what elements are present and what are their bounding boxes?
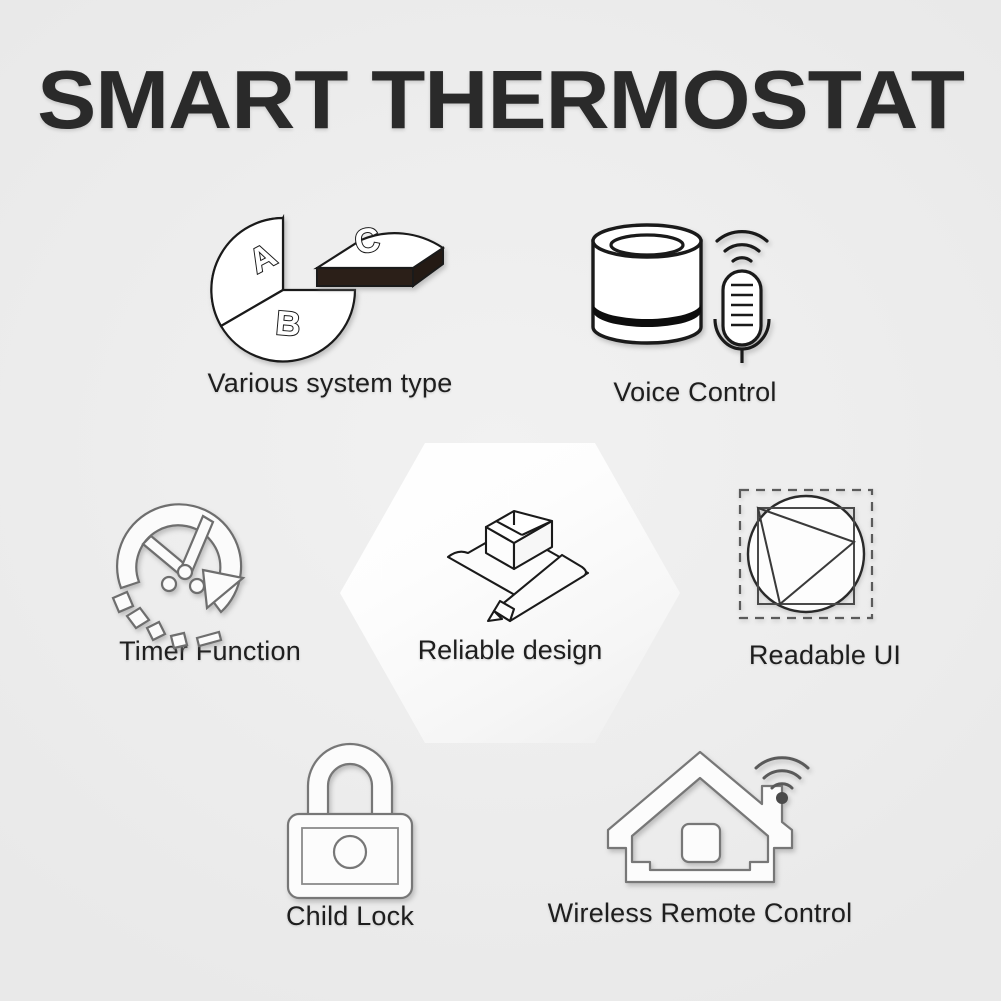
isometric-box-pencil-icon xyxy=(410,481,610,631)
pie-label-c: C xyxy=(352,220,383,262)
feature-wireless-remote-control[interactable]: Wireless Remote Control xyxy=(500,742,900,929)
feature-readable-ui[interactable]: Readable UI xyxy=(710,480,940,671)
feature-label: Readable UI xyxy=(710,640,940,671)
feature-various-system-type[interactable]: A B C Various system type xyxy=(185,212,475,399)
padlock-icon xyxy=(230,748,470,893)
feature-voice-control[interactable]: Voice Control xyxy=(545,215,845,408)
feature-reliable-design[interactable]: Reliable design xyxy=(340,443,680,743)
clock-arrow-timer-icon xyxy=(95,492,325,632)
house-wifi-icon xyxy=(500,742,900,892)
pie-label-b: B xyxy=(274,304,302,344)
poster-canvas: SMART THERMOSTAT xyxy=(0,0,1001,1001)
feature-child-lock[interactable]: Child Lock xyxy=(230,748,470,932)
feature-label: Wireless Remote Control xyxy=(500,898,900,929)
geometry-circle-square-triangle-icon xyxy=(710,480,940,630)
page-title: SMART THERMOSTAT xyxy=(0,52,1001,148)
feature-label: Reliable design xyxy=(340,635,680,666)
feature-label: Voice Control xyxy=(545,377,845,408)
smart-speaker-microphone-icon xyxy=(545,215,845,365)
feature-timer-function[interactable]: Timer Function xyxy=(95,492,325,667)
feature-label: Various system type xyxy=(185,368,475,399)
feature-label: Child Lock xyxy=(230,901,470,932)
pie-chart-3d-icon: A B C xyxy=(185,212,475,362)
